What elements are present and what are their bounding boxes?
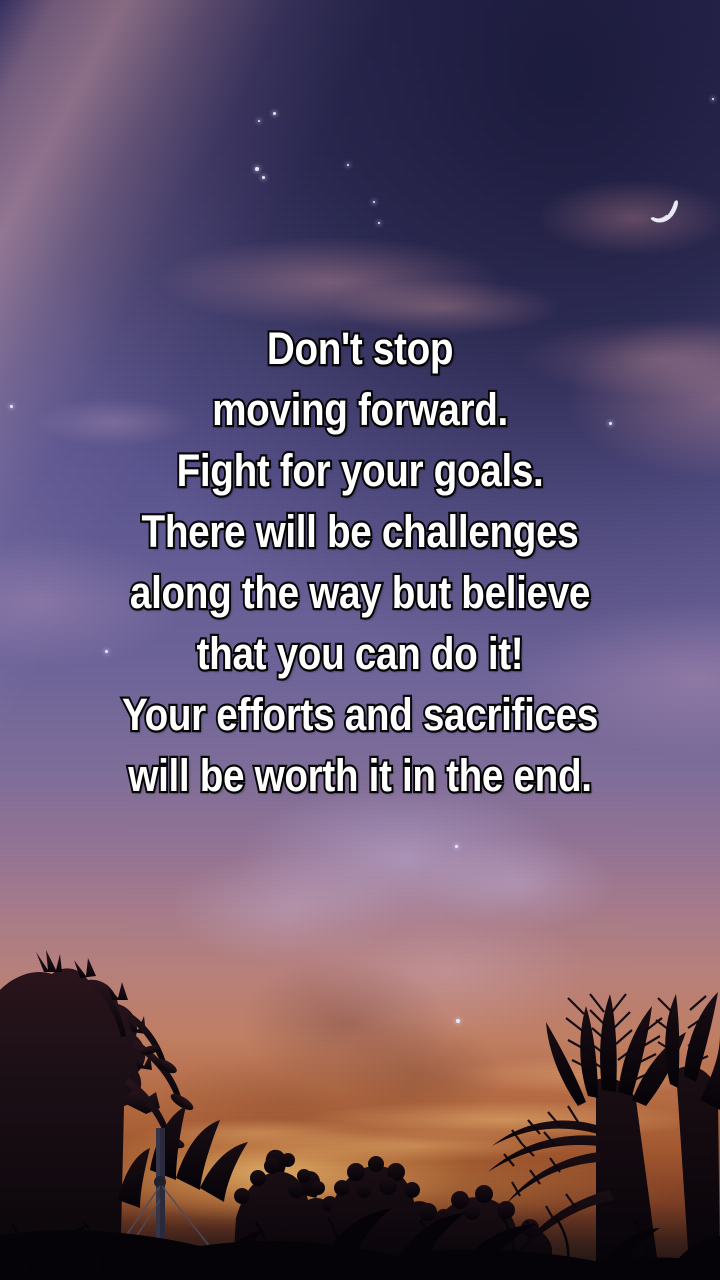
quote-text-block: Don't stop moving forward. Fight for you… [0,318,720,806]
quote-line: There will be challenges [50,501,669,562]
quote-line: that you can do it! [50,623,669,684]
quote-line: moving forward. [50,379,669,440]
quote-line: Don't stop [50,318,669,379]
wallpaper-canvas: Don't stop moving forward. Fight for you… [0,0,720,1280]
star-icon [456,1019,460,1023]
star-icon [373,201,375,203]
quote-line: Your efforts and sacrifices [50,684,669,745]
star-icon [378,222,380,224]
star-icon [255,167,259,171]
quote-line: along the way but believe [50,562,669,623]
quote-line: will be worth it in the end. [50,745,669,806]
quote-line: Fight for your goals. [50,440,669,501]
star-icon [262,176,265,179]
star-icon [347,164,349,166]
star-icon [258,120,260,122]
star-icon [712,98,714,100]
star-icon [273,112,276,115]
star-icon [455,845,458,848]
